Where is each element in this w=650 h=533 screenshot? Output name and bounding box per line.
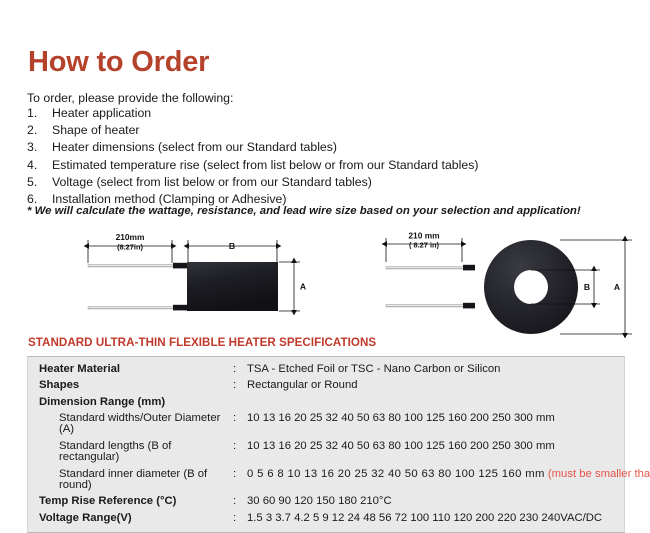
list-item-label: Voltage (select from list below or from … (52, 176, 627, 188)
spec-label: Standard inner diameter (B of round) (28, 469, 233, 492)
table-row: Standard lengths (B of rectangular) : 10… (28, 438, 624, 466)
list-item-number: 4. (27, 159, 52, 171)
list-item: 1. Heater application (27, 107, 627, 119)
spec-label: Dimension Range (mm) (28, 397, 233, 408)
rect-height-label: A (300, 282, 306, 292)
list-item-number: 1. (27, 107, 52, 119)
heater-diagrams: 210mm (8.27in) B A (0, 228, 650, 340)
list-item: 5. Voltage (select from list below or fr… (27, 176, 627, 188)
page-title: How to Order (28, 48, 209, 77)
spec-colon: : (233, 364, 247, 375)
spec-value: 10 13 16 20 25 32 40 50 63 80 100 125 16… (247, 413, 624, 424)
list-item-label: Heater dimensions (select from our Stand… (52, 141, 627, 153)
table-row: Standard inner diameter (B of round) : 0… (28, 466, 624, 494)
list-item-label: Installation method (Clamping or Adhesiv… (52, 193, 627, 205)
table-row: Voltage Range(V) : 1.5 3 3.7 4.2 5 9 12 … (28, 510, 624, 526)
spec-colon: : (233, 380, 247, 391)
list-item-label: Heater application (52, 107, 627, 119)
table-row: Dimension Range (mm) (28, 394, 624, 410)
rectangular-heater-diagram: 210mm (8.27in) B A (88, 232, 306, 311)
spec-value: 0 5 6 8 10 13 16 20 25 32 40 50 63 80 10… (247, 468, 545, 480)
round-lead-length-inches-label: ( 8.27 in) (409, 241, 440, 250)
list-item-number: 3. (27, 141, 52, 153)
spec-value: 30 60 90 120 150 180 210°C (247, 496, 624, 507)
spec-label: Temp Rise Reference (°C) (28, 496, 233, 507)
spec-label: Standard lengths (B of rectangular) (28, 441, 233, 464)
spec-label: Standard widths/Outer Diameter (A) (28, 413, 233, 436)
footnote-text: * We will calculate the wattage, resista… (27, 205, 581, 218)
spec-section-heading: STANDARD ULTRA-THIN FLEXIBLE HEATER SPEC… (28, 336, 376, 349)
round-outer-diameter-label: A (614, 282, 620, 292)
spec-value: 1.5 3 3.7 4.2 5 9 12 24 48 56 72 100 110… (247, 513, 624, 524)
spec-value-group: 0 5 6 8 10 13 16 20 25 32 40 50 63 80 10… (247, 469, 650, 480)
spec-value: Rectangular or Round (247, 380, 624, 391)
list-item-number: 6. (27, 193, 52, 205)
rect-width-label: B (229, 241, 235, 251)
rect-lead-length-label: 210mm (116, 232, 145, 242)
spec-colon: : (233, 513, 247, 524)
spec-value: 10 13 16 20 25 32 40 50 63 80 100 125 16… (247, 441, 624, 452)
rect-lead-length-inches-label: (8.27in) (117, 243, 143, 252)
list-item-label: Shape of heater (52, 124, 627, 136)
round-heater-diagram: 210 mm ( 8.27 in) B A (386, 231, 632, 335)
spec-label: Voltage Range(V) (28, 513, 233, 524)
table-row: Standard widths/Outer Diameter (A) : 10 … (28, 410, 624, 438)
heater-diagram-svg: 210mm (8.27in) B A (0, 228, 650, 340)
round-inner-diameter-label: B (584, 282, 590, 292)
spec-colon: : (233, 413, 247, 424)
table-row: Heater Material : TSA - Etched Foil or T… (28, 361, 624, 377)
how-to-order-page: How to Order To order, please provide th… (0, 0, 650, 523)
order-requirements-list: 1. Heater application 2. Shape of heater… (27, 107, 627, 210)
spec-colon: : (233, 469, 247, 480)
spec-value: TSA - Etched Foil or TSC - Nano Carbon o… (247, 364, 624, 375)
inner-diameter-warning: (must be smaller than A) (548, 468, 650, 480)
table-row: Temp Rise Reference (°C) : 30 60 90 120 … (28, 494, 624, 510)
list-item: 2. Shape of heater (27, 124, 627, 136)
spec-colon: : (233, 496, 247, 507)
intro-text: To order, please provide the following: (27, 91, 233, 106)
list-item: 4. Estimated temperature rise (select fr… (27, 159, 627, 171)
round-lead-length-label: 210 mm (408, 231, 439, 241)
list-item: 6. Installation method (Clamping or Adhe… (27, 193, 627, 205)
list-item-number: 5. (27, 176, 52, 188)
round-heater-disc (484, 240, 578, 334)
table-row: Shapes : Rectangular or Round (28, 377, 624, 393)
list-item-number: 2. (27, 124, 52, 136)
spec-label: Shapes (28, 380, 233, 391)
spec-table: Heater Material : TSA - Etched Foil or T… (27, 356, 625, 533)
list-item: 3. Heater dimensions (select from our St… (27, 141, 627, 153)
spec-colon: : (233, 441, 247, 452)
spec-label: Heater Material (28, 364, 233, 375)
list-item-label: Estimated temperature rise (select from … (52, 159, 627, 171)
